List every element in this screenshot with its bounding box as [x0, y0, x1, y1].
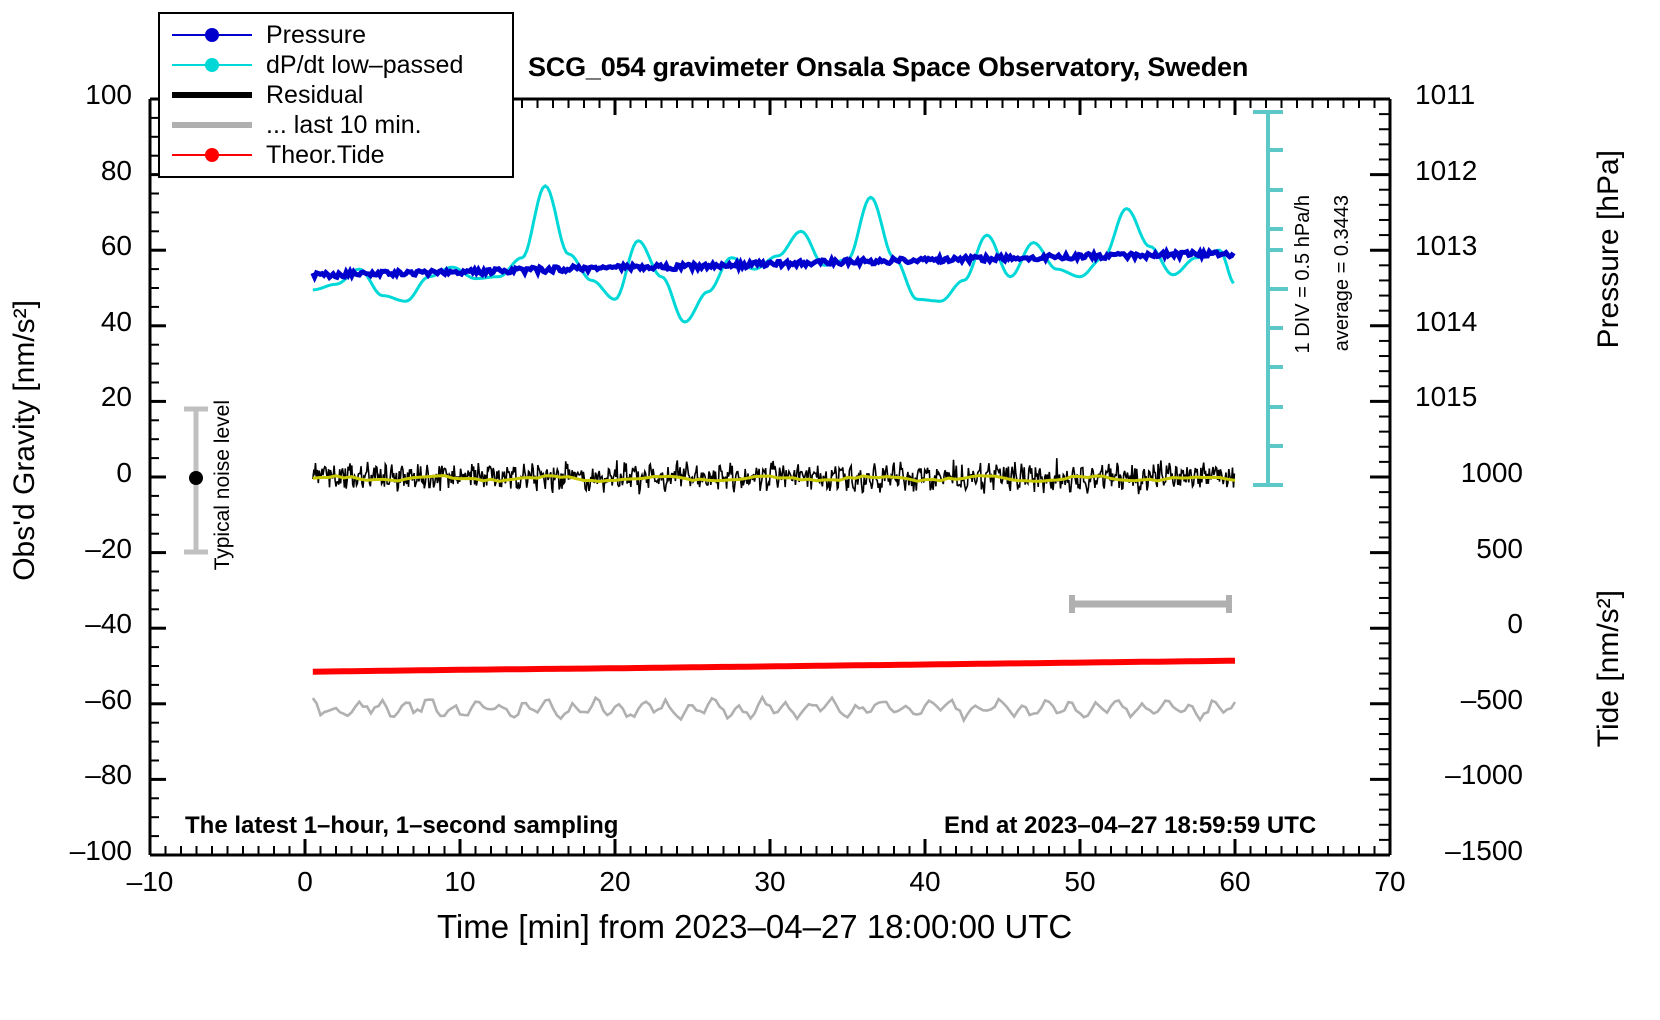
legend-item-2: Residual	[168, 80, 512, 110]
bottom-right-annotation: End at 2023–04–27 18:59:59 UTC	[944, 812, 1316, 840]
dpdt-scale-bar	[1253, 112, 1288, 485]
right-axis-title-tide: Tide [nm/s²]	[1592, 590, 1626, 747]
legend: PressuredP/dt low–passedResidual... last…	[158, 12, 514, 178]
pressure-tick-label-2: 1013	[1415, 230, 1477, 262]
legend-item-3: ... last 10 min.	[168, 110, 512, 140]
typical-noise-level-label: Typical noise level	[211, 400, 235, 570]
pressure-tick-label-1: 1014	[1415, 306, 1477, 338]
left-tick-label-4: 20	[0, 381, 132, 413]
left-tick-label-6: –20	[0, 533, 132, 565]
x-tick-label-3: 20	[575, 866, 655, 898]
series-group	[313, 186, 1235, 721]
typical-noise-level-errorbar	[184, 409, 208, 552]
tide-tick-label-0: 1000	[1415, 457, 1523, 489]
x-axis-title: Time [min] from 2023–04–27 18:00:00 UTC	[437, 908, 1072, 946]
tide-tick-label-3: –500	[1415, 684, 1523, 716]
left-tick-label-5: 0	[0, 457, 132, 489]
left-axis-ticks	[150, 99, 166, 855]
left-tick-label-1: 80	[0, 155, 132, 187]
dpdt-average-label: average = 0.3443	[1331, 195, 1354, 351]
x-tick-label-2: 10	[420, 866, 500, 898]
legend-label-2: Residual	[266, 81, 363, 110]
legend-label-3: ... last 10 min.	[266, 111, 422, 140]
dpdt-div-label: 1 DIV = 0.5 hPa/h	[1292, 195, 1315, 353]
tide-tick-label-5: –1500	[1415, 835, 1523, 867]
series-last-10-min	[313, 697, 1235, 720]
bottom-left-annotation: The latest 1–hour, 1–second sampling	[185, 812, 618, 840]
legend-swatch-2	[168, 82, 256, 108]
last-10-min-bar	[1072, 595, 1229, 613]
legend-swatch-4	[168, 142, 256, 168]
legend-label-1: dP/dt low–passed	[266, 51, 463, 80]
series-theor-tide	[313, 661, 1235, 672]
legend-swatch-3	[168, 112, 256, 138]
legend-swatch-0	[168, 22, 256, 48]
x-tick-label-7: 60	[1195, 866, 1275, 898]
left-tick-label-10: –100	[0, 835, 132, 867]
left-tick-label-2: 60	[0, 230, 132, 262]
x-tick-label-5: 40	[885, 866, 965, 898]
left-tick-label-7: –40	[0, 608, 132, 640]
x-tick-label-0: –10	[110, 866, 190, 898]
right-axis-title-pressure: Pressure [hPa]	[1592, 150, 1626, 348]
legend-label-4: Theor.Tide	[266, 141, 385, 170]
x-tick-label-6: 50	[1040, 866, 1120, 898]
legend-label-0: Pressure	[266, 21, 366, 50]
x-tick-label-1: 0	[265, 866, 345, 898]
left-tick-label-0: 100	[0, 79, 132, 111]
tide-tick-label-4: –1000	[1415, 759, 1523, 791]
left-tick-label-3: 40	[0, 306, 132, 338]
tide-tick-label-1: 500	[1415, 533, 1523, 565]
x-tick-label-8: 70	[1350, 866, 1430, 898]
right-axis-ticks	[1370, 99, 1390, 855]
pressure-tick-label-3: 1012	[1415, 155, 1477, 187]
left-tick-label-8: –60	[0, 684, 132, 716]
bottom-axis-ticks	[150, 839, 1390, 855]
pressure-tick-label-0: 1015	[1415, 381, 1477, 413]
legend-item-0: Pressure	[168, 20, 512, 50]
pressure-tick-label-4: 1011	[1415, 79, 1475, 111]
x-tick-label-4: 30	[730, 866, 810, 898]
legend-item-4: Theor.Tide	[168, 140, 512, 170]
legend-swatch-1	[168, 52, 256, 78]
tide-tick-label-2: 0	[1415, 608, 1523, 640]
left-tick-label-9: –80	[0, 759, 132, 791]
chart-title: SCG_054 gravimeter Onsala Space Observat…	[528, 52, 1248, 83]
legend-item-1: dP/dt low–passed	[168, 50, 512, 80]
